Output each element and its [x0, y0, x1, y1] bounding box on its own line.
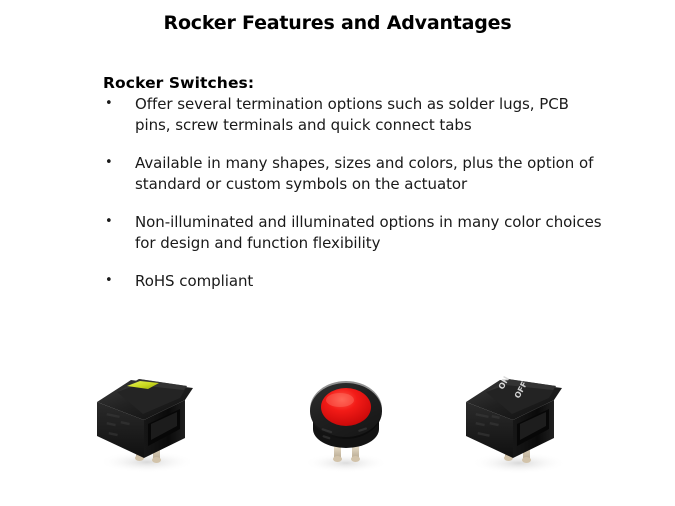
- product-shadow: [304, 453, 388, 473]
- lens-highlight: [326, 393, 354, 407]
- content-block: Rocker Switches: • Offer several termina…: [103, 74, 603, 292]
- product-image-illuminated-round-rocker-switch: [282, 366, 412, 484]
- page-title: Rocker Features and Advantages: [0, 12, 675, 34]
- feature-bullet-list: • Offer several termination options such…: [103, 94, 603, 292]
- product-image-illuminated-rectangular-rocker-switch: [87, 366, 217, 484]
- section-subheading: Rocker Switches:: [103, 74, 603, 92]
- slide-canvas: Rocker Features and Advantages Rocker Sw…: [0, 0, 675, 506]
- bullet-point-icon: •: [105, 153, 113, 174]
- bullet-text: Non-illuminated and illuminated options …: [135, 213, 602, 252]
- product-image-row: ON OFF: [0, 366, 675, 486]
- product-shadow: [471, 452, 567, 474]
- list-item: • Offer several termination options such…: [103, 94, 603, 135]
- product-image-on-off-marked-rocker-switch: ON OFF: [457, 366, 587, 484]
- bullet-text: RoHS compliant: [135, 272, 253, 290]
- list-item: • Available in many shapes, sizes and co…: [103, 153, 603, 194]
- bullet-point-icon: •: [105, 271, 113, 292]
- bullet-point-icon: •: [105, 212, 113, 233]
- bullet-point-icon: •: [105, 94, 113, 115]
- list-item: • Non-illuminated and illuminated option…: [103, 212, 603, 253]
- bullet-text: Offer several termination options such a…: [135, 95, 569, 134]
- bullet-text: Available in many shapes, sizes and colo…: [135, 154, 593, 193]
- list-item: • RoHS compliant: [103, 271, 603, 292]
